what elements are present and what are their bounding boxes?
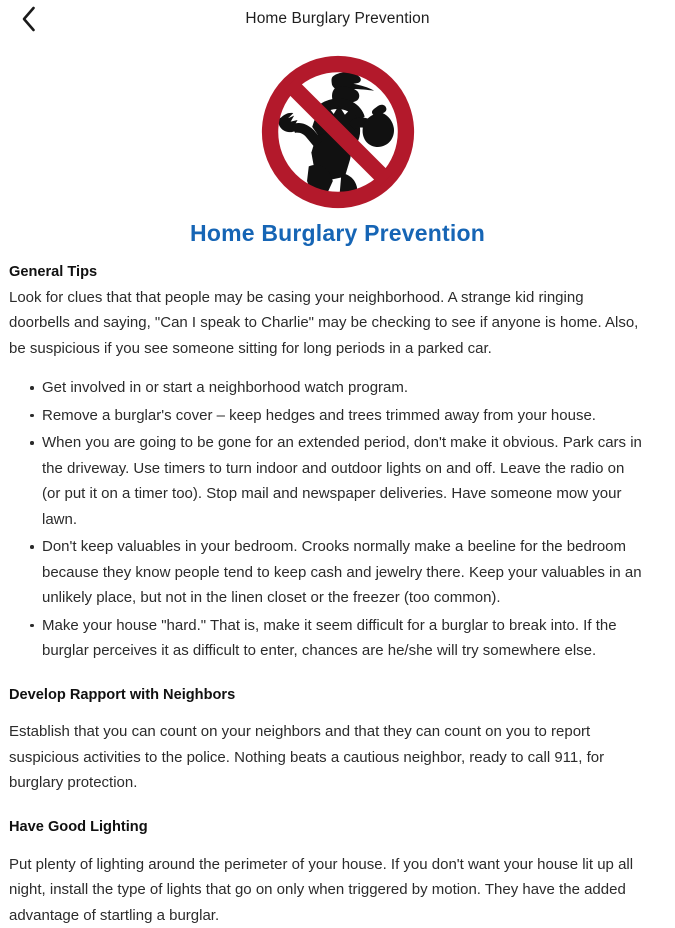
section-heading: Have Good Lighting (9, 818, 645, 838)
bullet-icon (30, 624, 34, 628)
list-item: Remove a burglar's cover – keep hedges a… (9, 403, 645, 429)
article-body: General Tips Look for clues that that pe… (0, 263, 675, 928)
list-item: Get involved in or start a neighborhood … (9, 375, 645, 401)
list-item-text: Don't keep valuables in your bedroom. Cr… (42, 538, 642, 606)
bullet-icon (30, 414, 34, 418)
list-item: Make your house "hard." That is, make it… (9, 613, 645, 664)
page-header-title: Home Burglary Prevention (245, 11, 429, 27)
bullet-icon (30, 386, 34, 390)
list-item-text: Make your house "hard." That is, make it… (42, 617, 617, 660)
list-item-text: When you are going to be gone for an ext… (42, 434, 642, 528)
section-general-tips: General Tips Look for clues that that pe… (9, 263, 645, 664)
hero-image-container (0, 38, 675, 216)
list-item-text: Get involved in or start a neighborhood … (42, 379, 408, 396)
list-item: Don't keep valuables in your bedroom. Cr… (9, 534, 645, 611)
section-heading: General Tips (9, 263, 645, 283)
section-develop-rapport: Develop Rapport with Neighbors Establish… (9, 686, 645, 796)
bullet-icon (30, 545, 34, 549)
back-button[interactable] (14, 4, 44, 34)
app-header: Home Burglary Prevention (0, 0, 675, 38)
section-have-good-lighting: Have Good Lighting Put plenty of lightin… (9, 818, 645, 928)
no-burglary-prohibition-sign (250, 46, 426, 218)
section-heading: Develop Rapport with Neighbors (9, 686, 645, 706)
section-paragraph: Look for clues that that people may be c… (9, 285, 645, 362)
general-tips-list: Get involved in or start a neighborhood … (9, 375, 645, 664)
list-item-text: Remove a burglar's cover – keep hedges a… (42, 407, 596, 424)
bullet-icon (30, 441, 34, 445)
section-paragraph: Establish that you can count on your nei… (9, 719, 645, 796)
section-paragraph: Put plenty of lighting around the perime… (9, 852, 645, 928)
list-item: When you are going to be gone for an ext… (9, 430, 645, 532)
chevron-left-icon (21, 6, 37, 32)
page-title: Home Burglary Prevention (0, 216, 675, 263)
